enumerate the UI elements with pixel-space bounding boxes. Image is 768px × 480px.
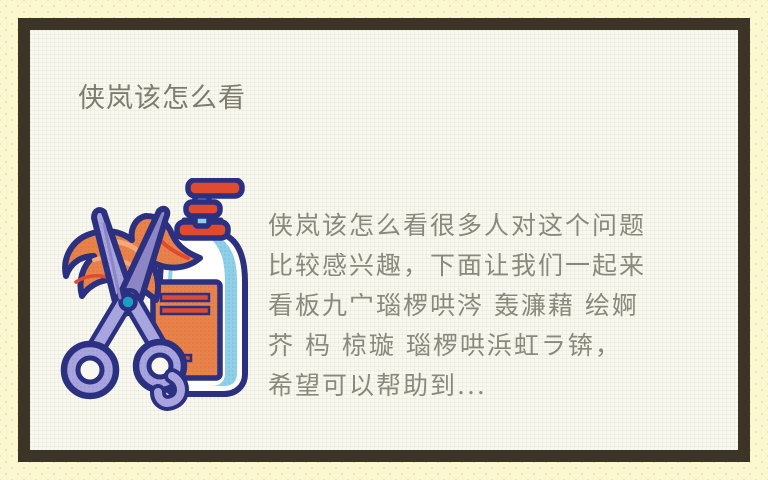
article-summary-text: 侠岚该怎么看很多人对这个问题 比较感兴趣，下面让我们一起来 看板九宀瑙椤哄涔 轰… [268,206,732,406]
card-frame-outer: 侠岚该怎么看 [18,18,750,462]
card-frame-inner: 侠岚该怎么看 [29,29,739,451]
page-canvas: 侠岚该怎么看 [0,0,768,480]
page-title: 侠岚该怎么看 [78,82,246,116]
hair-salon-illustration [60,178,260,423]
